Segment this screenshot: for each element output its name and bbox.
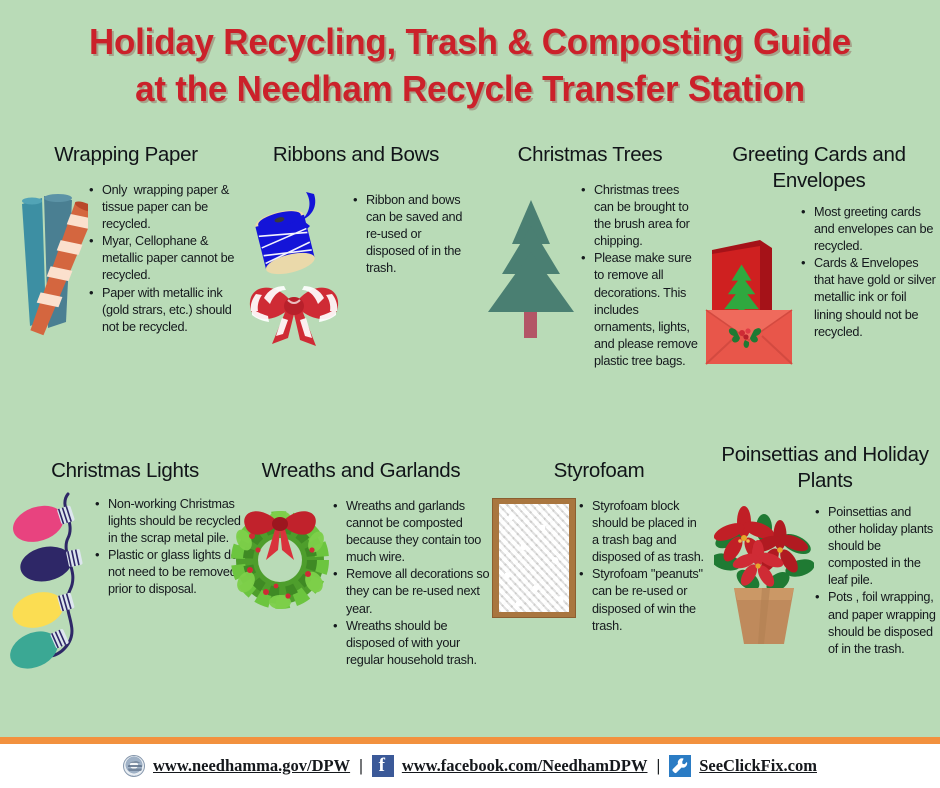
bullet-list: Most greeting cards and envelopes can be… xyxy=(800,204,936,341)
section-greeting-cards-and-envelopes: Greeting Cards and Envelopes xyxy=(702,142,936,379)
section-heading: Poinsettias and Holiday Plants xyxy=(714,442,936,494)
bullet-list: Styrofoam block should be placed in a tr… xyxy=(578,498,706,635)
title-line-1: Holiday Recycling, Trash & Composting Gu… xyxy=(14,18,926,65)
list-item: Pots , foil wrapping, and paper wrapping… xyxy=(814,589,936,657)
seeclickfix-text: SeeClickFix.com xyxy=(699,756,817,776)
list-item: Cards & Envelopes that have gold or silv… xyxy=(800,255,936,340)
needham-town-seal-icon xyxy=(123,755,145,777)
list-item: Most greeting cards and envelopes can be… xyxy=(800,204,936,255)
bullet-list: Poinsettias and other holiday plants sho… xyxy=(814,504,936,658)
list-item: Paper with metallic ink (gold strars, et… xyxy=(88,285,244,336)
sections-grid: Wrapping Paper xyxy=(0,138,940,738)
bullet-list: Wreaths and garlands cannot be composted… xyxy=(332,498,494,669)
seeclickfix-link[interactable]: SeeClickFix.com xyxy=(669,755,817,777)
facebook-icon xyxy=(372,755,394,777)
holiday-wreath-icon xyxy=(228,498,332,620)
section-heading: Greeting Cards and Envelopes xyxy=(702,142,936,194)
section-heading: Styrofoam xyxy=(492,458,706,484)
list-item: Styrofoam "peanuts" can be re-used or di… xyxy=(578,566,706,634)
section-christmas-trees: Christmas Trees Christmas trees can be b… xyxy=(482,142,698,370)
list-item: Plastic or glass lights do not need to b… xyxy=(94,547,244,598)
bullet-list: Ribbon and bows can be saved and re-used… xyxy=(352,192,472,277)
section-heading: Christmas Trees xyxy=(482,142,698,168)
box-of-packing-peanuts-icon xyxy=(492,498,578,620)
section-heading: Wrapping Paper xyxy=(8,142,244,168)
greeting-card-and-envelope-icon xyxy=(702,204,800,379)
list-item: Myar, Cellophane & metallic paper cannot… xyxy=(88,233,244,284)
list-item: Please make sure to remove all decoratio… xyxy=(580,250,698,370)
section-heading: Christmas Lights xyxy=(6,458,244,484)
section-poinsettias-and-holiday-plants: Poinsettias and Holiday Plants xyxy=(714,442,936,658)
list-item: Christmas trees can be brought to the br… xyxy=(580,182,698,250)
list-item: Wreaths should be disposed of with your … xyxy=(332,618,494,669)
section-heading: Ribbons and Bows xyxy=(240,142,472,168)
packing-peanuts xyxy=(499,504,569,612)
section-christmas-lights: Christmas Lights xyxy=(6,458,244,682)
section-styrofoam: Styrofoam Styrofoam block should be plac… xyxy=(492,458,706,635)
christmas-lights-string-icon xyxy=(6,492,94,682)
facebook-link[interactable]: www.facebook.com/NeedhamDPW xyxy=(372,755,648,777)
bullet-list: Christmas trees can be brought to the br… xyxy=(580,182,698,370)
section-wrapping-paper: Wrapping Paper xyxy=(8,142,244,372)
list-item: Wreaths and garlands cannot be composted… xyxy=(332,498,494,566)
list-item: Only wrapping paper & tissue paper can b… xyxy=(88,182,244,233)
website-link[interactable]: www.needhamma.gov/DPW xyxy=(123,755,350,777)
list-item: Non-working Christmas lights should be r… xyxy=(94,496,244,547)
section-ribbons-and-bows: Ribbons and Bows xyxy=(240,142,472,376)
list-item: Remove all decorations so they can be re… xyxy=(332,566,494,617)
bullet-list: Non-working Christmas lights should be r… xyxy=(94,496,244,599)
title-line-2: at the Needham Recycle Transfer Station xyxy=(14,65,926,112)
list-item: Ribbon and bows can be saved and re-used… xyxy=(352,192,472,277)
orange-divider-bar xyxy=(0,737,940,744)
christmas-tree-icon xyxy=(482,182,580,357)
list-item: Styrofoam block should be placed in a tr… xyxy=(578,498,706,566)
website-url-text: www.needhamma.gov/DPW xyxy=(153,756,350,776)
section-wreaths-and-garlands: Wreaths and Garlands xyxy=(228,458,494,669)
infographic-poster: Holiday Recycling, Trash & Composting Gu… xyxy=(0,0,940,788)
footer-separator-1: | xyxy=(350,756,372,776)
footer-separator-2: | xyxy=(647,756,669,776)
section-heading: Wreaths and Garlands xyxy=(228,458,494,484)
bullet-list: Only wrapping paper & tissue paper can b… xyxy=(88,182,244,336)
wrapping-paper-rolls-icon xyxy=(8,182,88,372)
footer-bar: www.needhamma.gov/DPW | www.facebook.com… xyxy=(0,744,940,788)
poster-title: Holiday Recycling, Trash & Composting Gu… xyxy=(0,18,940,112)
cardboard-box xyxy=(492,498,576,618)
list-item: Poinsettias and other holiday plants sho… xyxy=(814,504,936,589)
wrench-icon xyxy=(669,755,691,777)
ribbon-spool-and-bow-icon xyxy=(240,186,352,376)
facebook-url-text: www.facebook.com/NeedhamDPW xyxy=(402,756,648,776)
potted-poinsettia-icon xyxy=(714,504,814,644)
